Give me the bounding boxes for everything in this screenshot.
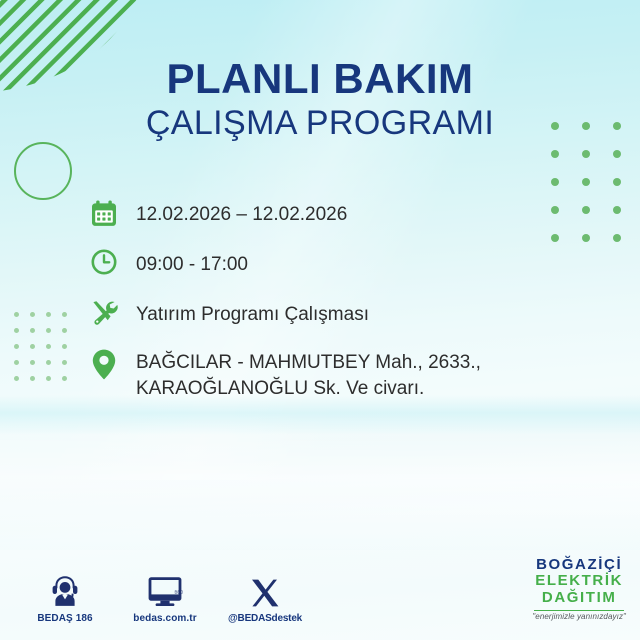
maintenance-details-list: 12.02.2026 – 12.02.2026 09:00 - 17:00 — [84, 198, 554, 414]
poster-footer: BEDAŞ 186 BEDAS bedas.com.tr — [0, 550, 640, 626]
brand-line-bogazici: BOĞAZİÇİ — [532, 557, 626, 574]
circle-outline-decoration — [14, 142, 72, 200]
contact-x-label: @BEDASdestek — [228, 613, 302, 624]
detail-address-text: BAĞCILAR - MAHMUTBEY Mah., 2633., KARAOĞ… — [124, 348, 554, 402]
background-band-lower — [0, 430, 640, 550]
contact-website[interactable]: BEDAS bedas.com.tr — [128, 568, 202, 626]
brand-tagline: "enerjimizle yanınızdayız" — [532, 613, 626, 622]
calendar-icon — [84, 198, 124, 227]
clock-icon — [84, 248, 124, 275]
detail-work-type-text: Yatırım Programı Çalışması — [124, 298, 369, 328]
dot-grid-right-decoration — [551, 122, 640, 262]
contact-website-label: bedas.com.tr — [133, 613, 196, 624]
svg-text:BEDAS: BEDAS — [175, 589, 184, 594]
bedas-logo: BOĞAZİÇİ ELEKTRİK DAĞITIM "enerjimizle y… — [532, 557, 626, 622]
x-twitter-icon — [228, 568, 302, 608]
map-pin-icon — [84, 348, 124, 380]
detail-row-work-type: Yatırım Programı Çalışması — [84, 298, 554, 336]
page-title: PLANLI BAKIM — [0, 58, 640, 101]
headset-support-icon — [28, 568, 102, 608]
contact-channels: BEDAŞ 186 BEDAS bedas.com.tr — [28, 568, 302, 626]
brand-divider — [534, 610, 624, 611]
detail-date-text: 12.02.2026 – 12.02.2026 — [124, 198, 347, 228]
planned-maintenance-poster: PLANLI BAKIM ÇALIŞMA PROGRAMI — [0, 0, 640, 640]
tools-icon — [84, 298, 124, 326]
dot-grid-left-decoration — [14, 312, 78, 392]
monitor-icon: BEDAS — [128, 568, 202, 608]
contact-call-center-label: BEDAŞ 186 — [37, 613, 92, 624]
detail-time-text: 09:00 - 17:00 — [124, 248, 248, 278]
contact-x-social[interactable]: @BEDASdestek — [228, 568, 302, 626]
brand-line-dagitim: DAĞITIM — [532, 590, 626, 607]
page-subtitle: ÇALIŞMA PROGRAMI — [0, 106, 640, 142]
contact-call-center[interactable]: BEDAŞ 186 — [28, 568, 102, 626]
detail-row-time: 09:00 - 17:00 — [84, 248, 554, 286]
poster-heading: PLANLI BAKIM ÇALIŞMA PROGRAMI — [0, 58, 640, 142]
detail-row-date: 12.02.2026 – 12.02.2026 — [84, 198, 554, 236]
detail-row-address: BAĞCILAR - MAHMUTBEY Mah., 2633., KARAOĞ… — [84, 348, 554, 402]
brand-line-elektrik: ELEKTRİK — [532, 573, 626, 590]
